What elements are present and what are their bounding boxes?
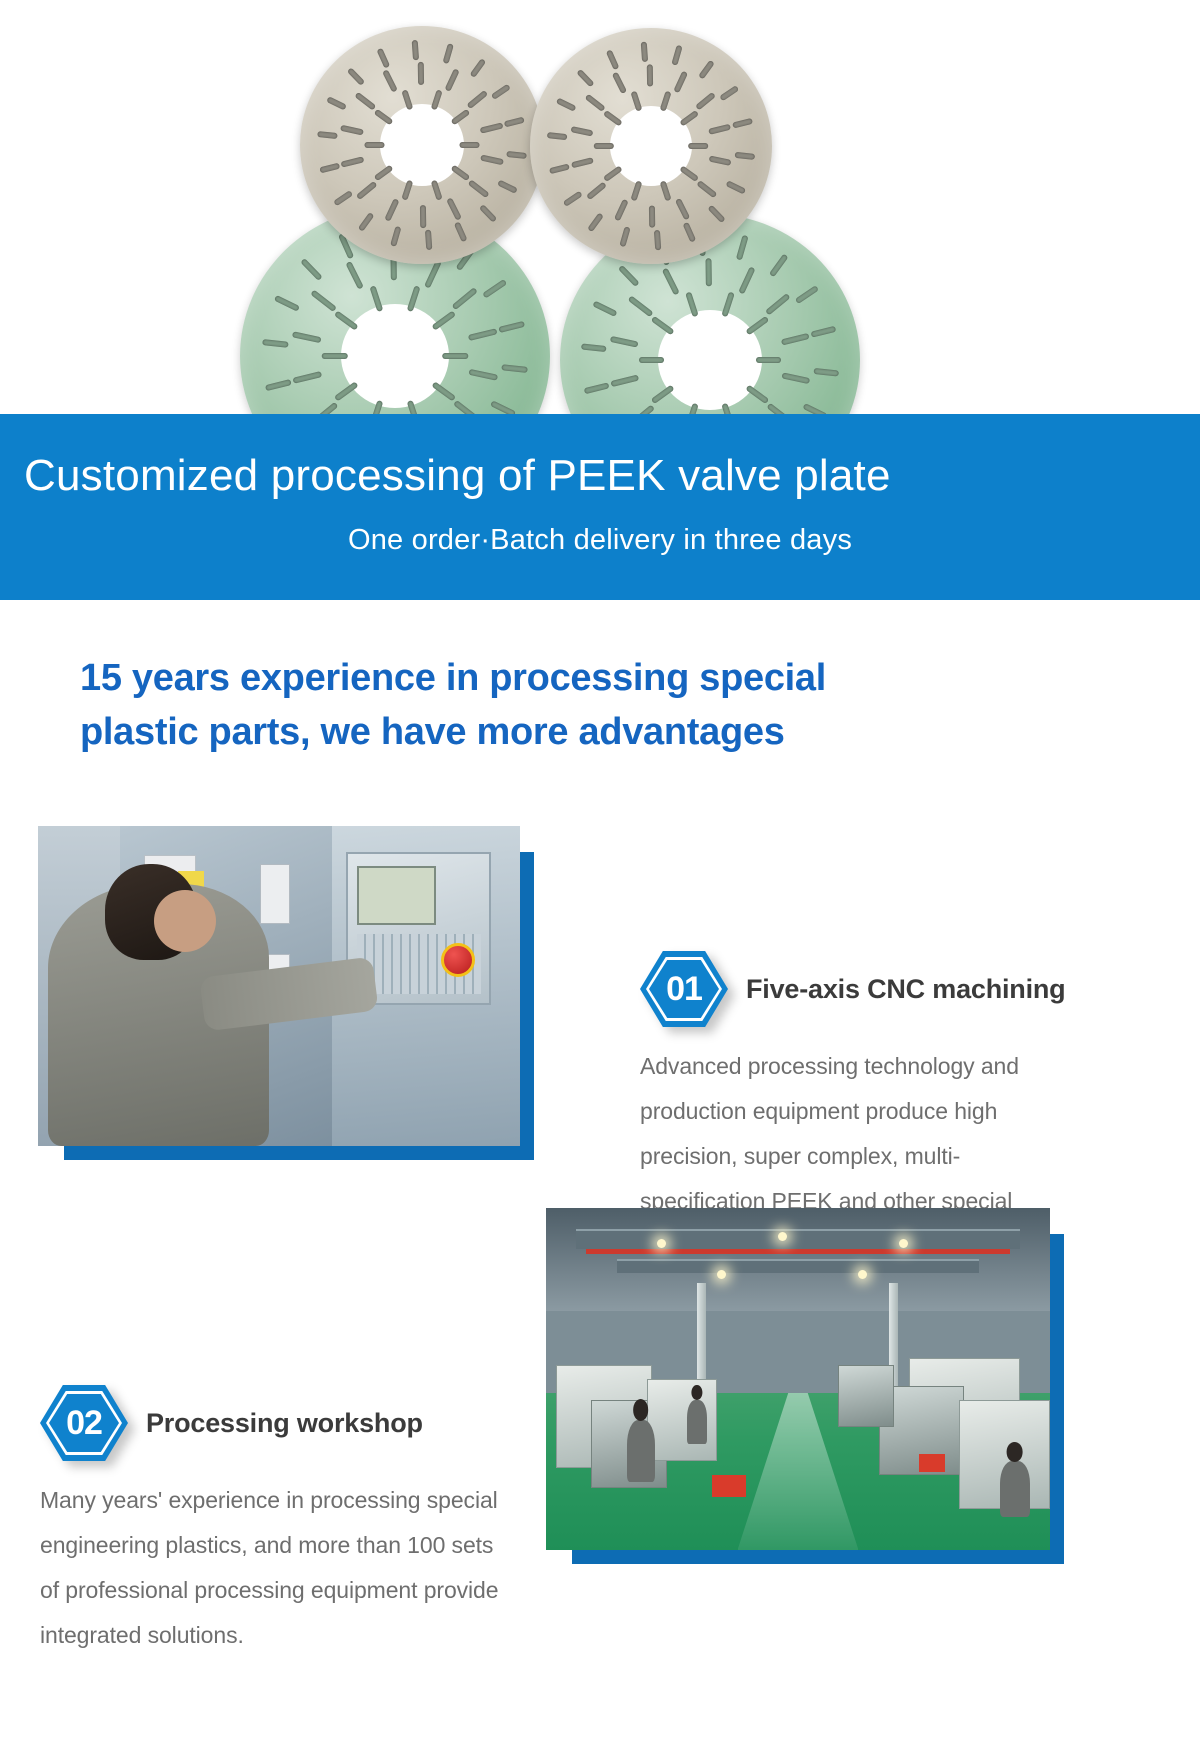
plate-slot [501, 364, 527, 373]
plate-slot [317, 131, 338, 139]
tan-plate-left [300, 26, 544, 264]
plate-slot [563, 191, 583, 207]
plate-slot [586, 182, 607, 201]
plate-slot [584, 382, 610, 394]
plate-slot [707, 205, 725, 224]
plate-slot [654, 230, 661, 250]
plate-slot [660, 91, 672, 112]
plate-slot [451, 109, 471, 126]
plate-slot [612, 71, 627, 94]
processing-workshop-photo [546, 1208, 1050, 1550]
plate-slot [425, 230, 432, 251]
plate-slot [679, 110, 699, 127]
tan-plate-right [530, 28, 772, 264]
plate-slot [679, 165, 699, 182]
plate-slot [451, 165, 471, 182]
plate-slot [603, 165, 623, 182]
plate-slot [814, 368, 839, 377]
plate-slot [738, 267, 755, 295]
plate-slot [407, 286, 421, 312]
plate-slot [292, 331, 321, 343]
plate-slot [491, 84, 511, 100]
title-banner: Customized processing of PEEK valve plat… [0, 414, 1200, 600]
plate-slot [745, 385, 769, 404]
plate-slot [346, 261, 364, 289]
photo-accent-bottom [64, 1146, 534, 1160]
plate-slot [732, 118, 753, 129]
plate-slot [795, 285, 819, 304]
plate-slot [736, 235, 749, 261]
plate-slot [431, 89, 443, 110]
plate-slot [431, 381, 455, 401]
plate-slot [765, 293, 790, 315]
plate-slot [581, 344, 606, 353]
plate-slot [547, 132, 568, 140]
plate-slot [769, 254, 788, 278]
plate-slot [673, 70, 688, 93]
plate-slot [745, 316, 769, 335]
plate-slot [376, 48, 390, 69]
plate-slot [610, 336, 638, 348]
plate-slot [480, 155, 503, 166]
feature-02-text: 02 Processing workshop Many years' exper… [40, 1386, 518, 1657]
plate-slot [319, 163, 340, 174]
headline-line-1: 15 years experience in processing specia… [80, 652, 1080, 706]
plate-slot [322, 353, 348, 359]
plate-slot [420, 205, 426, 228]
plate-slot [355, 92, 377, 111]
plate-slot [446, 197, 461, 220]
plate-slot [708, 124, 731, 135]
plate-slot [468, 328, 497, 341]
plate-slot [695, 92, 716, 111]
plate-slot [570, 126, 593, 137]
headline-line-2: plastic parts, we have more advantages [80, 706, 1080, 760]
plate-slot [614, 199, 629, 222]
plate-slot [639, 357, 664, 363]
feature-02-body: Many years' experience in processing spe… [40, 1478, 518, 1657]
plate-slot [454, 222, 468, 243]
plate-slot [576, 69, 594, 88]
plate-slot [340, 125, 363, 136]
photo-accent-right [1050, 1234, 1064, 1564]
plate-slot [459, 142, 479, 148]
plate-slot [311, 290, 337, 312]
plate-slot [811, 326, 837, 338]
plate-slot [688, 143, 708, 149]
plate-slot [333, 190, 353, 206]
plate-slot [412, 40, 419, 61]
plate-slot [726, 180, 747, 194]
plate-slot [341, 156, 364, 167]
feature-02-header: 02 Processing workshop [40, 1386, 518, 1460]
plate-slot [263, 339, 289, 348]
plate-slot [587, 212, 604, 232]
plate-slot [482, 279, 506, 298]
plate-slot [571, 157, 594, 168]
banner-title: Customized processing of PEEK valve plat… [0, 414, 1200, 498]
plate-slot [719, 85, 739, 101]
plate-slot [385, 198, 400, 221]
product-detail-page: Customized processing of PEEK valve plat… [0, 0, 1200, 1758]
plate-slot [675, 198, 690, 221]
plate-slot [611, 375, 639, 387]
section-headline: 15 years experience in processing specia… [80, 652, 1080, 760]
hexagon-badge-02-icon: 02 [40, 1385, 128, 1461]
plate-slot [651, 385, 675, 404]
plate-slot [390, 226, 401, 247]
plate-slot [705, 258, 711, 286]
plate-slot [781, 372, 809, 384]
plate-slot [549, 164, 570, 175]
plate-slot [584, 93, 605, 111]
photo-accent-right [520, 852, 534, 1160]
plate-slot [709, 155, 732, 166]
plate-slot [452, 287, 478, 310]
plate-slot [442, 353, 468, 359]
plate-slot [593, 301, 618, 317]
plate-slot [630, 180, 642, 201]
plate-slot [401, 180, 413, 201]
plate-slot [685, 292, 698, 317]
plate-slot [468, 369, 497, 381]
plate-slot [356, 181, 377, 200]
plate-slot [480, 122, 503, 133]
photo-accent-bottom [572, 1550, 1064, 1564]
plate-slot [647, 64, 653, 86]
plate-slot [504, 117, 525, 128]
plate-slot [445, 69, 460, 92]
plate-slot [683, 222, 697, 243]
plate-slot [756, 357, 781, 363]
plate-slot [431, 180, 443, 201]
plate-slot [382, 70, 397, 93]
feature-02-number: 02 [40, 1385, 128, 1461]
feature-01-header: 01 Five-axis CNC machining [640, 952, 1070, 1026]
plate-slot [641, 42, 648, 62]
plate-slot [347, 67, 365, 86]
plate-slot [556, 98, 577, 112]
plate-slot [424, 260, 441, 288]
plate-slot [470, 58, 487, 78]
plate-slot [265, 379, 291, 391]
plate-slot [735, 152, 756, 160]
banner-subtitle: One order·Batch delivery in three days [0, 498, 1200, 557]
plate-slot [628, 296, 654, 318]
hexagon-badge-01-icon: 01 [640, 951, 728, 1027]
plate-slot [479, 204, 497, 223]
plate-slot [326, 96, 347, 110]
plate-slot [649, 206, 655, 228]
plate-slot [671, 45, 682, 66]
plate-slot [497, 180, 518, 194]
feature-02-title: Processing workshop [146, 1408, 423, 1439]
plate-slot [619, 226, 630, 247]
plate-slot [498, 321, 524, 333]
plate-slot [467, 90, 488, 109]
plate-slot [781, 333, 809, 345]
plate-slot [630, 91, 642, 112]
plate-slot [468, 179, 490, 198]
plate-slot [618, 265, 640, 287]
plate-slot [301, 258, 323, 281]
plate-slot [418, 62, 424, 85]
plate-slot [594, 143, 614, 149]
feature-01-number: 01 [640, 951, 728, 1027]
plate-slot [660, 180, 672, 201]
hero-product-photo [0, 0, 1200, 420]
plate-slot [662, 268, 680, 295]
plate-slot [358, 212, 375, 232]
plate-slot [606, 49, 620, 70]
plate-slot [506, 151, 527, 159]
plate-slot [364, 142, 384, 148]
plate-slot [721, 292, 734, 317]
cnc-machining-photo [38, 826, 520, 1146]
plate-slot [293, 371, 322, 384]
plate-slot [698, 60, 715, 80]
plate-slot [443, 43, 454, 64]
plate-slot [274, 295, 300, 312]
feature-01-title: Five-axis CNC machining [746, 974, 1065, 1005]
plate-slot [696, 180, 717, 198]
